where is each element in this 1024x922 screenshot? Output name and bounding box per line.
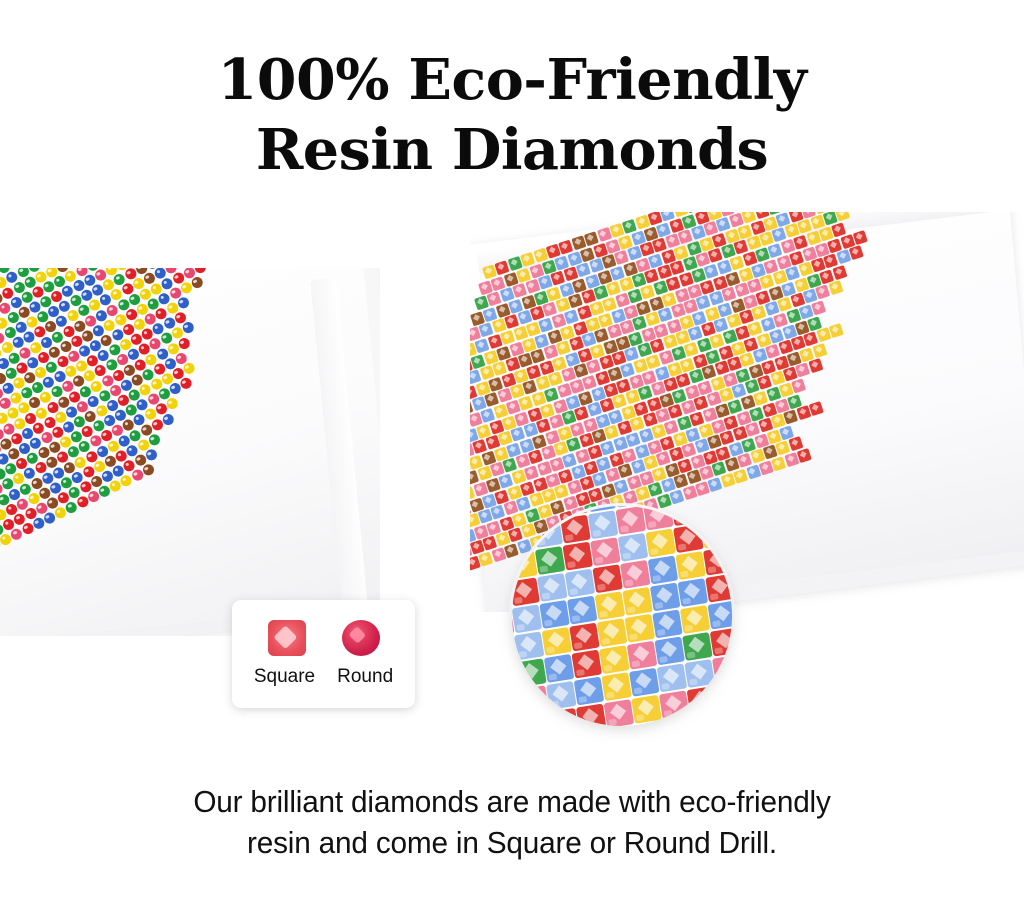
magnified-drill-bead: [512, 506, 533, 525]
magnified-drill-bead: [514, 631, 545, 660]
magnified-drill-bead: [544, 654, 575, 683]
magnified-drill-bead: [560, 515, 591, 544]
magnified-drill-bead: [618, 533, 649, 562]
magnified-drill-bead: [716, 709, 732, 726]
magnified-drill-bead: [535, 546, 566, 575]
magnified-drill-bead: [574, 677, 605, 706]
caption-line-2: resin and come in Square or Round Drill.: [20, 823, 1003, 864]
legend-label-square: Square: [254, 666, 315, 688]
page-title: 100% Eco-Friendly Resin Diamonds: [0, 52, 1024, 178]
magnified-drill-bead: [567, 596, 598, 625]
magnified-drill-bead: [533, 519, 564, 548]
magnified-drill-bead: [710, 628, 732, 657]
magnified-drill-bead: [712, 655, 732, 684]
magnified-drill-bead: [569, 623, 600, 652]
caption-text: Our brilliant diamonds are made with eco…: [0, 782, 1024, 864]
magnified-drill-bead: [512, 577, 540, 606]
magnified-drill-bead: [542, 627, 573, 656]
magnified-drill-bead: [659, 690, 690, 719]
magnified-drill-bead: [689, 713, 720, 726]
legend-gem-row: [268, 612, 380, 664]
magnified-drill-bead: [512, 550, 538, 579]
square-gem-icon: [268, 620, 306, 656]
magnified-drill-bead: [565, 569, 596, 598]
magnified-drill-bead: [673, 524, 704, 553]
magnified-drill-bead: [622, 587, 653, 616]
magnified-drill-bead: [518, 685, 549, 714]
magnified-drill-bead: [629, 668, 660, 697]
headline-line-1: 100% Eco-Friendly: [0, 52, 1024, 108]
magnified-drill-bead: [597, 618, 628, 647]
magnified-drill-bead: [521, 712, 552, 726]
magnified-drill-bead: [592, 564, 623, 593]
magnified-drill-bead: [537, 573, 568, 602]
magnified-drill-bead: [562, 542, 593, 571]
magnified-drill-bead: [671, 506, 702, 526]
magnified-drill-bead: [701, 520, 732, 549]
magnified-drill-bead: [654, 636, 685, 665]
magnified-drill-bead: [675, 551, 706, 580]
magnified-drill-bead: [539, 600, 570, 629]
magnified-drill-bead: [650, 582, 681, 611]
magnified-drill-bead: [657, 663, 688, 692]
magnified-drill-bead: [705, 574, 732, 603]
magnified-drill-bead: [645, 529, 676, 558]
legend-label-round: Round: [337, 666, 393, 688]
magnifier-content: [512, 506, 732, 726]
magnified-drill-bead: [512, 523, 535, 552]
magnified-drill-bead: [627, 641, 658, 670]
magnified-drill-bead: [707, 601, 732, 630]
magnified-drill-bead: [590, 537, 621, 566]
tray-round-drills: [0, 268, 380, 636]
caption-line-1: Our brilliant diamonds are made with eco…: [20, 782, 1003, 823]
headline-line-2: Resin Diamonds: [0, 122, 1024, 178]
drill-type-legend: Square Round: [232, 600, 415, 708]
magnified-drill-bead: [616, 506, 647, 535]
magnified-drill-bead: [680, 605, 711, 634]
magnified-drill-bead: [682, 632, 713, 661]
magnified-drill-bead: [643, 506, 674, 530]
magnified-drill-bead: [604, 699, 635, 726]
magnified-drill-bead: [512, 604, 542, 633]
magnified-drill-bead: [571, 650, 602, 679]
magnifier-closeup: [512, 506, 732, 726]
poster-canvas: 100% Eco-Friendly Resin Diamonds Square …: [0, 0, 1024, 922]
magnified-drill-bead: [548, 708, 579, 726]
magnified-drill-bead: [588, 510, 619, 539]
magnified-drill-bead: [703, 547, 732, 576]
magnified-drill-bead: [631, 695, 662, 724]
magnified-drill-bead: [687, 686, 718, 715]
magnified-drill-bead: [652, 609, 683, 638]
magnified-drill-bead: [599, 645, 630, 674]
magnified-drill-bead: [684, 659, 715, 688]
magnified-drill-bead: [595, 591, 626, 620]
magnified-drill-bead: [678, 578, 709, 607]
magnified-drill-bead: [516, 658, 547, 687]
magnified-drill-bead: [625, 614, 656, 643]
magnified-drill-bead: [601, 672, 632, 701]
legend-label-row: Square Round: [254, 666, 393, 688]
magnified-drill-bead: [620, 560, 651, 589]
magnified-drill-bead: [576, 704, 607, 726]
magnified-drill-bead: [546, 681, 577, 710]
round-gem-icon: [342, 620, 380, 656]
magnified-drill-bead: [648, 555, 679, 584]
magnified-drill-bead: [714, 682, 732, 711]
